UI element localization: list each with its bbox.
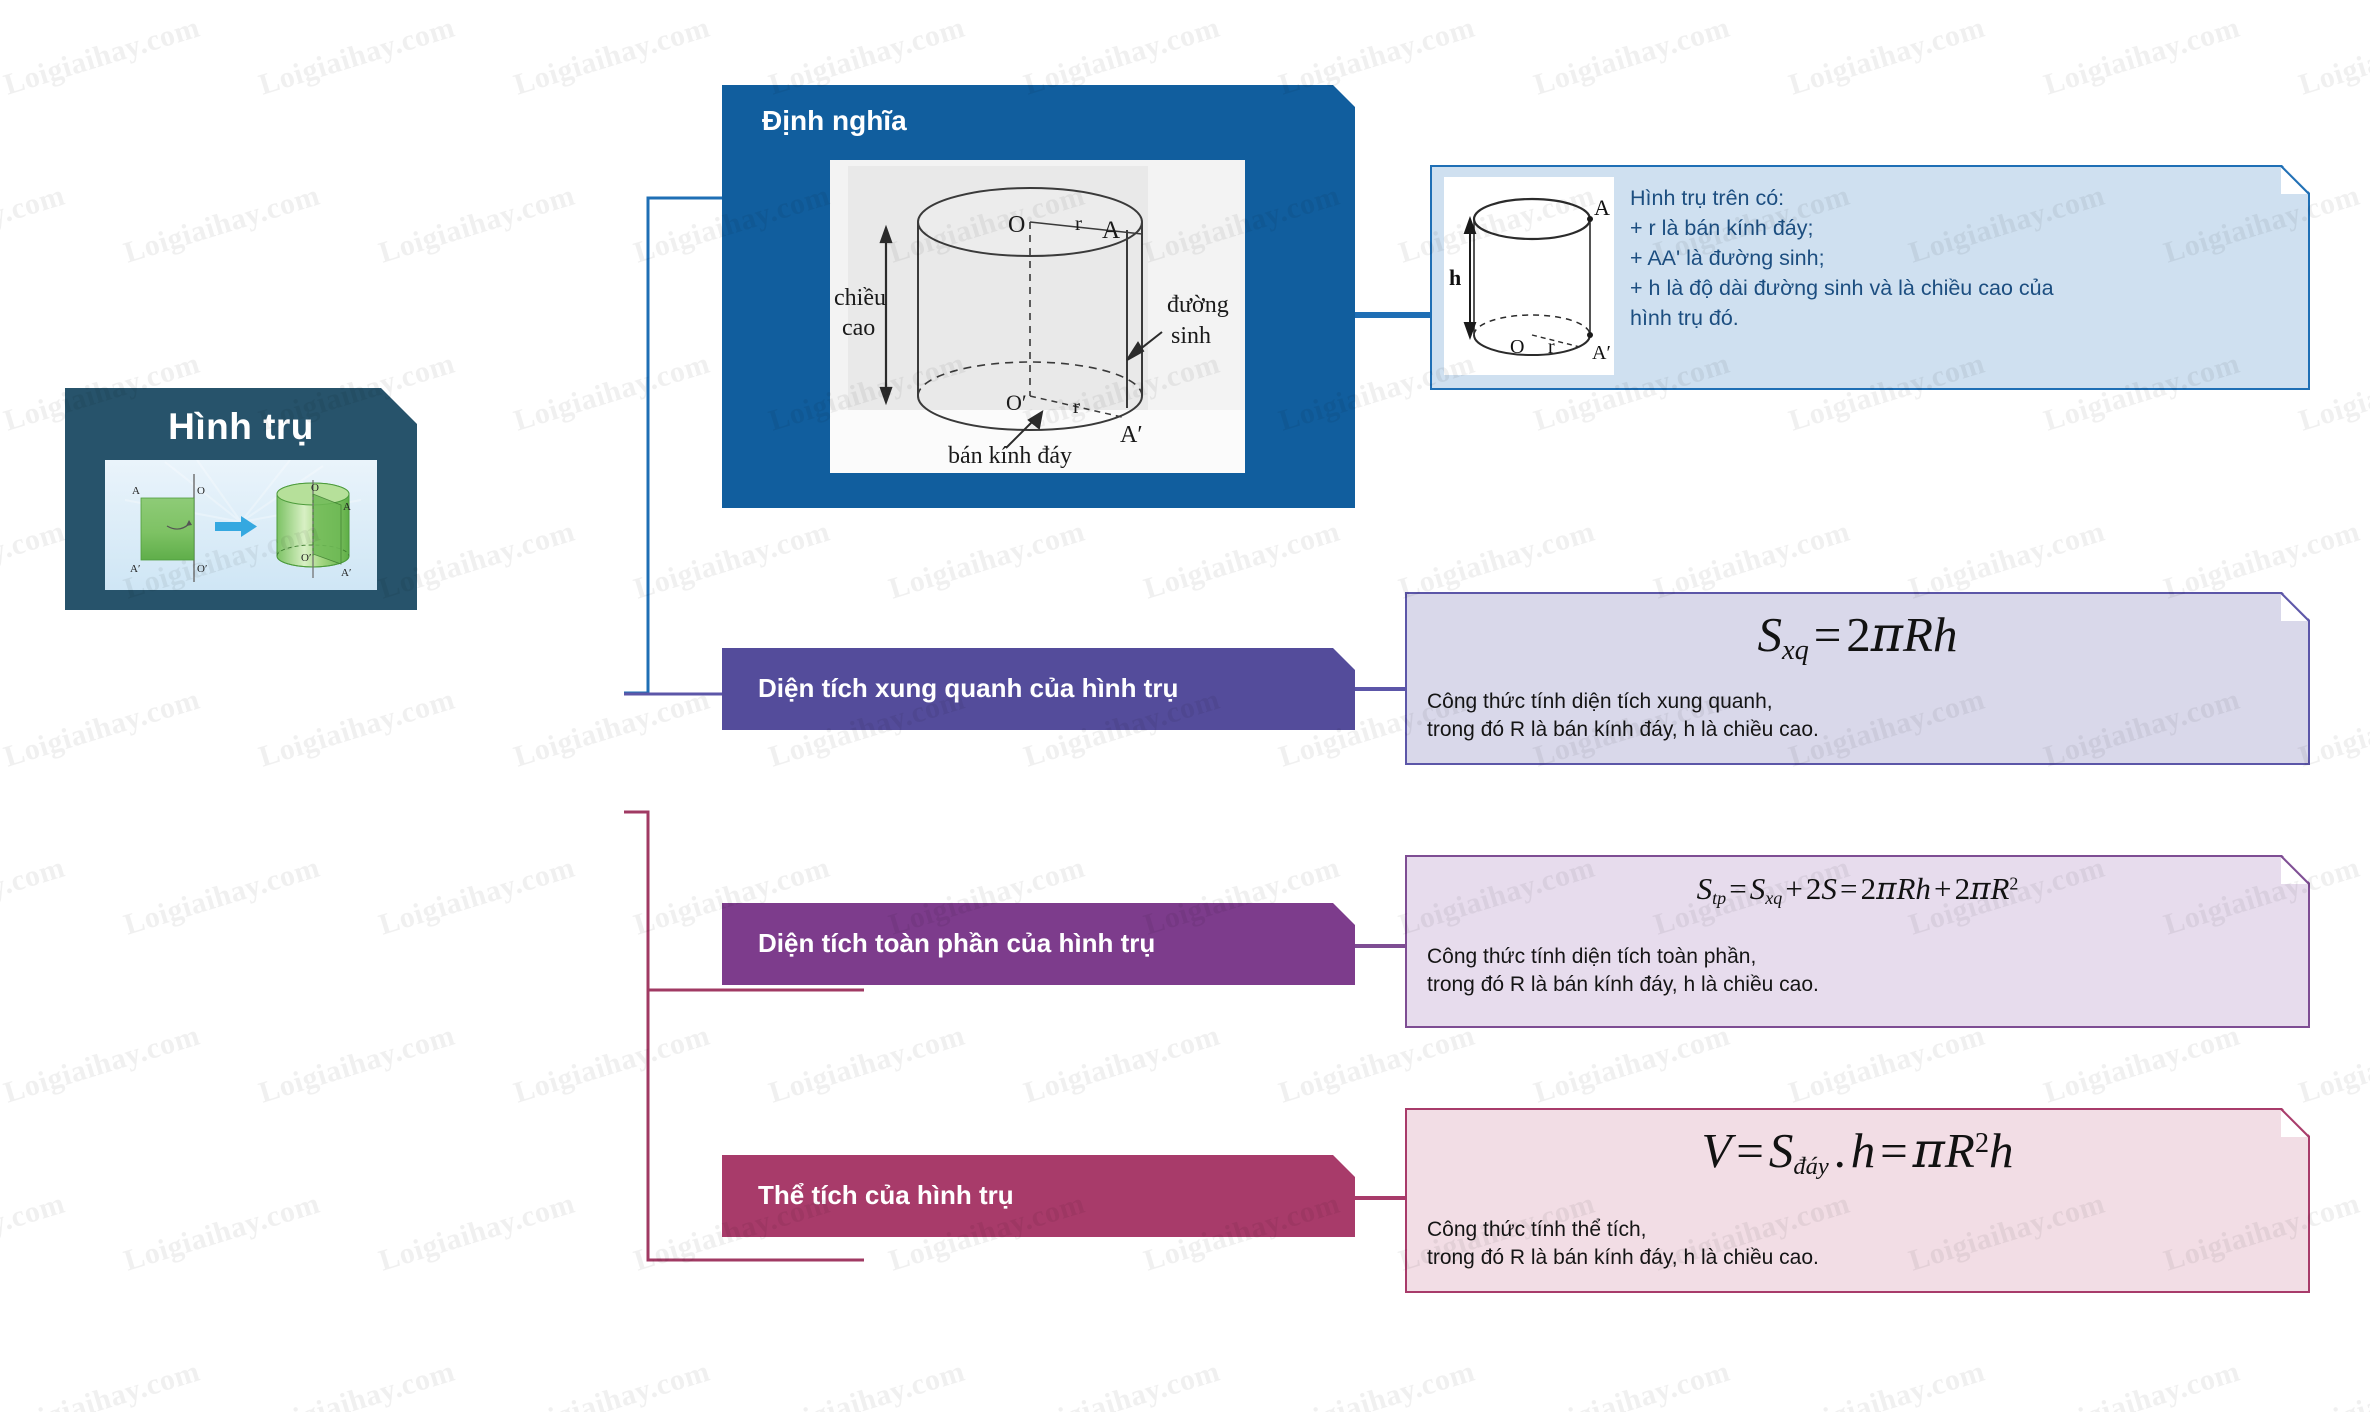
watermark-text: Loigiaihay.com	[255, 683, 459, 775]
definition-line-4: hình trụ đó.	[1630, 303, 2270, 333]
svg-text:r: r	[1075, 211, 1082, 235]
watermark-text: Loigiaihay.com	[375, 1187, 579, 1279]
watermark-text: Loigiaihay.com	[255, 1019, 459, 1111]
branch-node-dinh-nghia[interactable]: Định nghĩa	[722, 85, 1355, 508]
svg-text:bán kính đáy: bán kính đáy	[948, 443, 1072, 469]
watermark-text: Loigiaihay.com	[120, 179, 324, 271]
definition-panel-figure: h A O r A′	[1444, 177, 1614, 375]
definition-intro: Hình trụ trên có:	[1630, 183, 2270, 213]
svg-text:A′: A′	[1120, 422, 1143, 448]
watermark-text: Loigiaihay.com	[510, 11, 714, 103]
watermark-text: Loigiaihay.com	[1530, 1019, 1734, 1111]
watermark-text: Loigiaihay.com	[0, 179, 69, 271]
watermark-text: Loigiaihay.com	[1785, 11, 1989, 103]
caption-line-2: trong đó R là bán kính đáy, h là chiều c…	[1427, 1244, 2292, 1272]
caption-line-2: trong đó R là bán kính đáy, h là chiều c…	[1427, 971, 2292, 999]
svg-text:A′: A′	[341, 567, 351, 579]
svg-text:cao: cao	[842, 315, 875, 341]
corner-fold-icon	[1331, 85, 1355, 109]
branch-node-the-tich[interactable]: Thể tích của hình trụ	[722, 1155, 1355, 1237]
caption-line-2: trong đó R là bán kính đáy, h là chiều c…	[1427, 716, 2292, 744]
watermark-text: Loigiaihay.com	[2295, 11, 2370, 103]
watermark-text: Loigiaihay.com	[255, 11, 459, 103]
watermark-text: Loigiaihay.com	[1275, 1355, 1479, 1412]
root-figure-rotation-diagram: A O A′ O′	[105, 460, 377, 590]
watermark-text: Loigiaihay.com	[120, 1187, 324, 1279]
watermark-text: Loigiaihay.com	[0, 683, 204, 775]
svg-text:sinh: sinh	[1171, 323, 1211, 349]
svg-text:A′: A′	[1592, 342, 1611, 364]
definition-line-3: + h là độ dài đường sinh và là chiều cao…	[1630, 273, 2270, 303]
definition-line-2: + AA' là đường sinh;	[1630, 243, 2270, 273]
caption-line-1: Công thức tính diện tích xung quanh,	[1427, 688, 2292, 716]
watermark-text: Loigiaihay.com	[0, 1187, 69, 1279]
branch-label-dien-tich-xung-quanh: Diện tích xung quanh của hình trụ	[758, 674, 1341, 704]
svg-text:O: O	[197, 485, 205, 497]
corner-fold-icon	[1331, 903, 1355, 927]
panel-dien-tich-toan-phan: Stp=Sxq+2S=2πRh+2πR2 Công thức tính diện…	[1405, 855, 2310, 1028]
svg-text:đường: đường	[1167, 292, 1229, 318]
caption-line-1: Công thức tính diện tích toàn phần,	[1427, 943, 2292, 971]
watermark-text: Loigiaihay.com	[765, 1355, 969, 1412]
svg-text:A: A	[1594, 195, 1610, 220]
caption-line-1: Công thức tính thể tích,	[1427, 1216, 2292, 1244]
svg-text:h: h	[1449, 265, 1461, 290]
watermark-text: Loigiaihay.com	[375, 851, 579, 943]
formula-sxq: Sxq=2πRh	[1405, 606, 2310, 667]
connector-sxq-panel	[1355, 687, 1410, 691]
panel-the-tich: V=Sđáy.h=πR2h Công thức tính thể tích, t…	[1405, 1108, 2310, 1293]
svg-text:chiều: chiều	[834, 285, 886, 311]
branch-node-dien-tich-xung-quanh[interactable]: Diện tích xung quanh của hình trụ	[722, 648, 1355, 730]
watermark-text: Loigiaihay.com	[2040, 11, 2244, 103]
watermark-text: Loigiaihay.com	[2295, 1019, 2370, 1111]
definition-text-block: Hình trụ trên có: + r là bán kính đáy; +…	[1630, 183, 2270, 333]
branch-label-dinh-nghia: Định nghĩa	[762, 105, 907, 137]
panel-dinh-nghia: h A O r A′ Hình trụ trên có: + r là bán …	[1430, 165, 2310, 390]
watermark-text: Loigiaihay.com	[1785, 1019, 1989, 1111]
svg-text:A′: A′	[130, 563, 140, 575]
watermark-text: Loigiaihay.com	[2040, 1019, 2244, 1111]
svg-text:A: A	[1102, 217, 1120, 244]
definition-figure: O r A O′ r A′ chiều cao đường sinh bán k…	[830, 160, 1245, 473]
watermark-text: Loigiaihay.com	[2040, 1355, 2244, 1412]
svg-text:O′: O′	[1006, 390, 1027, 415]
watermark-text: Loigiaihay.com	[0, 851, 69, 943]
watermark-text: Loigiaihay.com	[0, 515, 69, 607]
watermark-text: Loigiaihay.com	[1530, 1355, 1734, 1412]
watermark-text: Loigiaihay.com	[375, 179, 579, 271]
watermark-text: Loigiaihay.com	[0, 1355, 204, 1412]
watermark-text: Loigiaihay.com	[2295, 1355, 2370, 1412]
connector-stp-panel	[1355, 944, 1410, 948]
watermark-text: Loigiaihay.com	[510, 1355, 714, 1412]
corner-fold-icon	[2280, 592, 2310, 622]
svg-text:O: O	[311, 482, 319, 494]
svg-text:r: r	[1073, 394, 1080, 418]
root-node-hinh-tru[interactable]: Hình trụ	[65, 388, 417, 610]
branch-node-dien-tich-toan-phan[interactable]: Diện tích toàn phần của hình trụ	[722, 903, 1355, 985]
svg-text:r: r	[1548, 336, 1555, 358]
corner-fold-icon	[2280, 1108, 2310, 1138]
svg-text:A: A	[132, 485, 140, 497]
connector-definition-panel	[1355, 312, 1435, 318]
watermark-text: Loigiaihay.com	[1140, 515, 1344, 607]
root-title: Hình trụ	[65, 406, 417, 448]
formula-volume: V=Sđáy.h=πR2h	[1405, 1122, 2310, 1181]
watermark-text: Loigiaihay.com	[1530, 11, 1734, 103]
mindmap-canvas: Hình trụ	[0, 0, 2370, 1412]
corner-fold-icon	[2280, 165, 2310, 195]
definition-line-1: + r là bán kính đáy;	[1630, 213, 2270, 243]
connector-volume-panel	[1355, 1196, 1410, 1200]
panel-dien-tich-xung-quanh: Sxq=2πRh Công thức tính diện tích xung q…	[1405, 592, 2310, 765]
svg-text:O: O	[1510, 336, 1524, 358]
watermark-text: Loigiaihay.com	[0, 11, 204, 103]
corner-fold-icon	[1331, 1155, 1355, 1179]
corner-fold-icon	[1331, 648, 1355, 672]
watermark-text: Loigiaihay.com	[885, 515, 1089, 607]
watermark-text: Loigiaihay.com	[255, 1355, 459, 1412]
watermark-text: Loigiaihay.com	[0, 1019, 204, 1111]
watermark-text: Loigiaihay.com	[1785, 1355, 1989, 1412]
caption-volume: Công thức tính thể tích, trong đó R là b…	[1427, 1216, 2292, 1273]
watermark-text: Loigiaihay.com	[1020, 1355, 1224, 1412]
svg-text:A: A	[343, 501, 351, 513]
corner-fold-icon	[2280, 855, 2310, 885]
branch-label-dien-tich-toan-phan: Diện tích toàn phần của hình trụ	[758, 929, 1341, 959]
caption-sxq: Công thức tính diện tích xung quanh, tro…	[1427, 688, 2292, 745]
svg-text:O: O	[1008, 212, 1025, 238]
watermark-text: Loigiaihay.com	[1020, 1019, 1224, 1111]
svg-text:O′: O′	[197, 563, 207, 575]
svg-text:O′: O′	[301, 552, 311, 564]
branch-label-the-tich: Thể tích của hình trụ	[758, 1181, 1341, 1211]
formula-stp: Stp=Sxq+2S=2πRh+2πR2	[1405, 871, 2310, 909]
caption-stp: Công thức tính diện tích toàn phần, tron…	[1427, 943, 2292, 1000]
watermark-text: Loigiaihay.com	[120, 851, 324, 943]
watermark-text: Loigiaihay.com	[1275, 1019, 1479, 1111]
